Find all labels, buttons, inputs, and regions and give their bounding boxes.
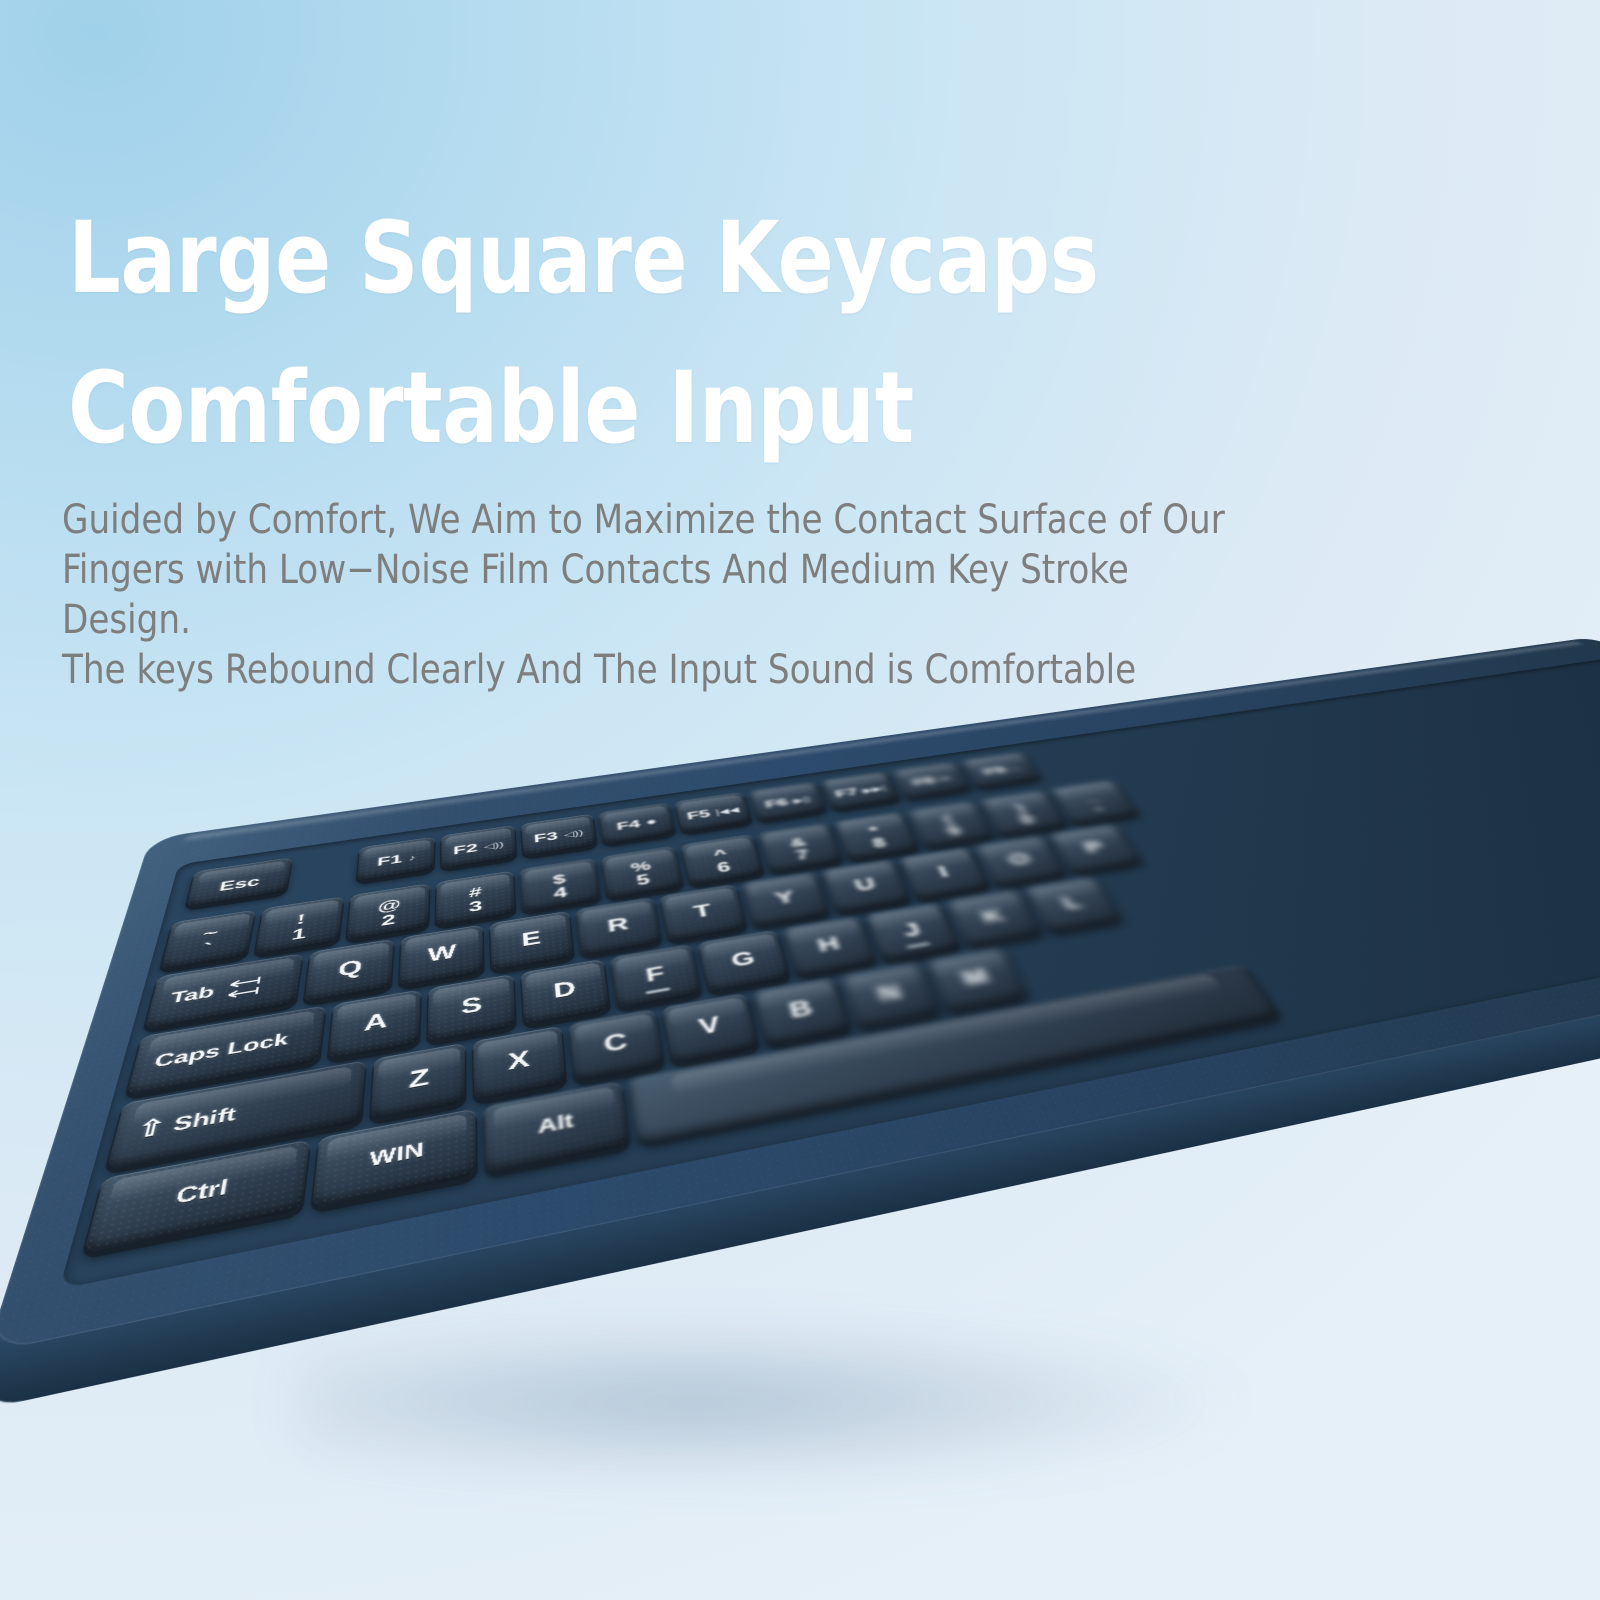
- key-sublegend-icon: ♪: [408, 853, 416, 863]
- key-lower-legend: 9: [945, 825, 963, 839]
- key-label: U: [847, 863, 878, 895]
- key-label: F5: [686, 808, 712, 823]
- key-sublegend-icon: ◁)): [484, 839, 504, 851]
- key-label: F4: [616, 818, 642, 834]
- key-label: F8: [910, 775, 937, 789]
- key-label: Q: [337, 943, 364, 980]
- page-title: Large Square Keycaps Comfortable Input: [68, 184, 1277, 484]
- key-sublegend-icon: ◁)): [563, 828, 584, 840]
- key-lower-legend: -: [1091, 803, 1106, 816]
- key-sublegend-icon: ⌂: [1008, 764, 1020, 772]
- body-copy: Guided by Comfort, We Aim to Maximize th…: [62, 495, 1259, 695]
- key-label: F6: [764, 796, 790, 811]
- key-sublegend-icon: ▶||: [792, 795, 811, 806]
- product-marketing-banner: Large Square Keycaps Comfortable Input G…: [0, 0, 1600, 1600]
- key-label: O: [999, 838, 1034, 868]
- key-label: S: [461, 979, 482, 1018]
- key-lower-legend: 8: [871, 836, 888, 850]
- key-label: P: [1073, 827, 1107, 856]
- key-label: F2: [453, 841, 478, 858]
- key-lower-legend: 7: [794, 848, 811, 863]
- key-label: F7: [833, 786, 860, 801]
- key-sublegend-icon: ▶▶|: [861, 784, 887, 795]
- key-label: F3: [533, 830, 558, 846]
- key-sublegend-icon: |◀◀: [714, 805, 740, 817]
- key-label: F9: [981, 764, 1008, 778]
- key-upper-legend: ~: [201, 925, 219, 941]
- key-lower-legend: 6: [716, 860, 732, 875]
- key-lower-legend: 0: [1018, 813, 1037, 827]
- key-label: F1: [377, 852, 403, 869]
- key-sublegend-icon: ✉: [938, 774, 952, 783]
- keyboard-drop-shadow: [300, 1330, 1600, 1510]
- key-label: I: [930, 851, 951, 880]
- key-sublegend-icon: ✹: [645, 817, 658, 827]
- keyboard: EscF1♪F2◁))F3◁))F4✹F5|◀◀F6▶||F7▶▶|F8✉F9⌂…: [0, 636, 1600, 1353]
